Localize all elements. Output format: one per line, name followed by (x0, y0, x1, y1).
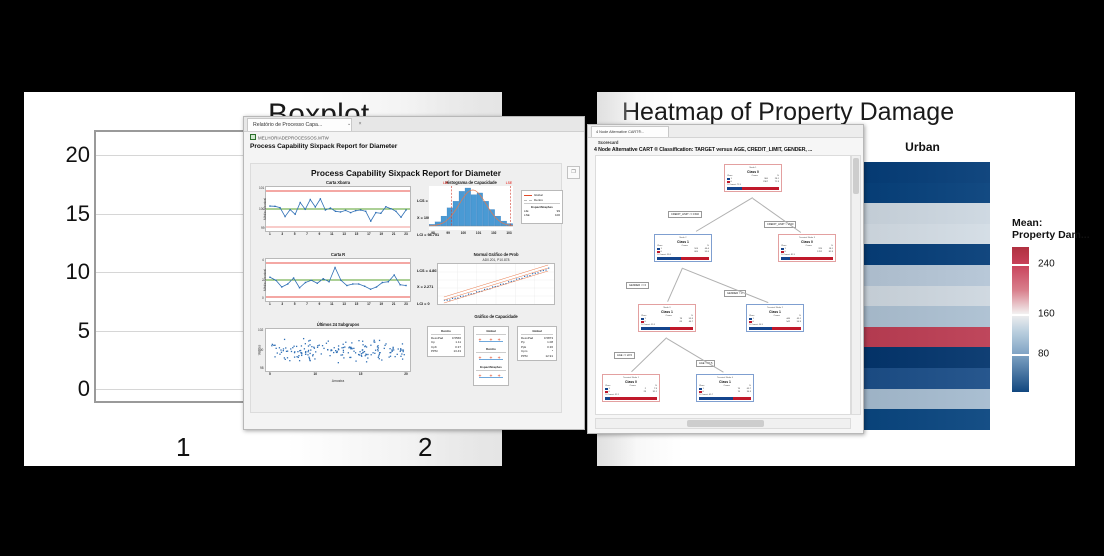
heatmap-legend-title-2: Property Dam... (1012, 229, 1104, 241)
xbar-ytick-2: 99 (261, 226, 265, 230)
histogram-plot-area: LIE LSE 9899100101102103 (429, 186, 513, 230)
heatmap-cell (855, 327, 990, 348)
legend-line-solid (524, 195, 532, 196)
cart-edge (667, 338, 724, 373)
xtick: 15 (355, 232, 359, 236)
legend-line-dashed (524, 200, 532, 201)
cart-node-bar (749, 327, 801, 330)
window-cart-classification[interactable]: 4 Node Alternative CART®... Scorecard 4 … (587, 124, 864, 434)
capability-plot: Gráfico de Capacidade (437, 314, 555, 320)
overall-table-header: Global (521, 329, 553, 335)
histogram-legend: Global Dentro Especificações LIE99 LSE10… (521, 190, 563, 224)
heatmap-cell (855, 368, 990, 389)
cart-node-bar (781, 257, 833, 260)
xbar-chart-title: Carta Xbarra (265, 180, 411, 185)
r-ucl-note: LCS = 4.801 (417, 269, 438, 273)
xtick: 99 (446, 231, 450, 235)
boxplot-ytick-4: 20 (66, 142, 90, 168)
legend-divider (524, 203, 560, 204)
boxplot-ytick-3: 15 (66, 201, 90, 227)
heatmap-legend-title-1: Mean: (1012, 217, 1104, 229)
worksheet-icon (250, 134, 256, 140)
capability-within-table: Dentro DesvPad0.5566 Cp1.11 CpK0.37 PPM1… (427, 326, 465, 357)
r-ytick-2: 0 (262, 296, 264, 300)
cart-tab[interactable]: 4 Node Alternative CART®... (591, 126, 669, 137)
cart-split-label: AGE <= 22.5 (614, 352, 635, 359)
cart-node[interactable]: Terminal Node 4Class 1ClassCases%17665.7… (696, 374, 754, 402)
histogram-xticks: 9899100101102103 (429, 230, 513, 236)
heatmap-cell (855, 306, 990, 327)
cart-node-bar (727, 187, 779, 190)
capability-plot-title: Gráfico de Capacidade (437, 314, 555, 319)
xtick: 7 (306, 302, 308, 306)
normal-prob-plot-area (437, 263, 555, 305)
capability-overall-table: Global DesvPad0.5873 Pp1.08 Ppk0.36 Cpm*… (517, 326, 557, 361)
xtick: 98 (431, 231, 435, 235)
slide-number-2: 2 (418, 432, 432, 463)
xtick: 9 (319, 232, 321, 236)
xtick: 9 (319, 302, 321, 306)
colorbar-ticklabel-160: 160 (1038, 308, 1055, 319)
xtick: 21 (392, 302, 396, 306)
cart-split-label: CREDIT_LIMIT <= 1540 (668, 211, 702, 218)
xtick: 1 (269, 302, 271, 306)
r-plot-area: Média Amostral 4 2 0 1357911131517192123 (265, 258, 411, 302)
colorbar-tickline (1012, 264, 1029, 266)
last-subgroups-title: Últimos 24 Subgrupos (265, 322, 411, 327)
xtick: 11 (330, 232, 333, 236)
cart-vscroll-thumb[interactable] (853, 158, 859, 194)
cart-node-bar (641, 327, 693, 330)
r-xticks: 1357911131517192123 (266, 301, 410, 307)
xtick: 3 (281, 302, 283, 306)
histogram-usl-label: LSE (506, 181, 512, 185)
heatmap-cell (855, 389, 990, 410)
heatmap-colorbar: 24016080 (1012, 247, 1029, 392)
heatmap-cell (855, 203, 990, 224)
cart-tree-canvas: Node 1Class 0ClassCases%190028.10230771.… (595, 155, 851, 415)
xtick: 13 (342, 232, 346, 236)
xtick: 11 (330, 302, 333, 306)
colorbar-tickline (1012, 354, 1029, 356)
capbar-spec: +++ (476, 372, 506, 381)
cart-node-class: Class 1 (699, 380, 751, 384)
r-series (266, 259, 410, 301)
cart-tabbar: 4 Node Alternative CART®... (588, 125, 863, 138)
cart-node-class: Class 0 (781, 240, 833, 244)
xtick: 15 (359, 372, 363, 376)
cart-split-label: GENDER <= 0 (626, 282, 649, 289)
heatmap-cell (855, 224, 990, 245)
heatmap-cells (855, 162, 990, 430)
normal-prob-series (438, 264, 554, 304)
boxplot-ytick-0: 0 (78, 376, 90, 402)
cart-node-class: Class 1 (749, 310, 801, 314)
xtick: 103 (506, 231, 511, 235)
cart-node-bar (605, 397, 657, 400)
r-chart-title: Carta R (265, 252, 411, 257)
cart-node[interactable]: Node 2Class 1ClassCases%152446.4060553.6… (654, 234, 712, 262)
cart-node[interactable]: Node 1Class 0ClassCases%190028.10230771.… (724, 164, 782, 192)
xtick: 19 (380, 302, 384, 306)
within-row-3: PPM13.43 (431, 349, 461, 353)
capability-bars-panel: Global +++ Dentro +++ Especificações +++ (473, 326, 509, 386)
xbar-xticks: 1357911131517192123 (266, 231, 410, 237)
cart-edge (696, 197, 753, 232)
xtick: 17 (367, 302, 371, 306)
heatmap-title: Heatmap of Property Damage (622, 98, 954, 127)
presentation-canvas: Boxplot 05101520 1 1 Heatmap of Property… (0, 0, 1104, 556)
colorbar-ticklabel-80: 80 (1038, 349, 1049, 360)
minitab-side-panel-button[interactable]: ❐ (567, 166, 580, 179)
xtick: 5 (269, 372, 271, 376)
colorbar-ticklabel-240: 240 (1038, 259, 1055, 270)
r-lcl-note: LCI = 0 (417, 302, 430, 306)
slide-number-1: 1 (176, 432, 190, 463)
cart-node-class: Class 0 (727, 170, 779, 174)
normal-prob-plot: Normal Gráfico de Prob AD0.201, P10.878 (437, 252, 555, 305)
xbar-plot-area: Média Amostral 101 100 99 13579111315171… (265, 186, 411, 232)
heatmap-cell (855, 347, 990, 368)
capbar-label-spec: Especificações (476, 365, 506, 371)
ls-xticks: 5101520 (266, 371, 410, 377)
legend-item-dentro: Dentro (524, 198, 560, 202)
cart-edge (683, 268, 768, 303)
heatmap-colorbar-gradient (1012, 247, 1029, 392)
minitab-worksheet-row: MELHORIADEPROCESSOS.MTW (244, 132, 584, 141)
cart-scorecard-label: Scorecard (588, 138, 863, 145)
ls-ytick-0: 102 (258, 328, 263, 332)
minitab-tabbar: Relatório de Processo Capa... ⌄ × (244, 117, 584, 132)
xtick: 19 (380, 232, 384, 236)
boxplot-ytick-1: 5 (78, 318, 90, 344)
xtick: 1 (269, 232, 271, 236)
sixpack-main-title: Process Capability Sixpack Report for Di… (251, 168, 561, 178)
window-minitab-capability[interactable]: Relatório de Processo Capa... ⌄ × MELHOR… (243, 116, 585, 430)
overall-row-4: PPM12.91 (521, 354, 553, 358)
within-table-header: Dentro (431, 329, 461, 335)
minitab-tab[interactable]: Relatório de Processo Capa... (247, 118, 352, 131)
heatmap-chart: Urban (855, 140, 990, 430)
xbar-ytick-0: 101 (259, 186, 264, 190)
cart-node-bar (699, 397, 751, 400)
ls-ytick-1: 100 (258, 348, 263, 352)
heatmap-cell (855, 183, 990, 204)
heatmap-column-label-urban: Urban (855, 140, 990, 154)
boxplot-ytick-2: 10 (66, 259, 90, 285)
xtick: 20 (404, 372, 408, 376)
r-center-note: X = 2.271 (417, 285, 433, 289)
cart-node-class: Class 0 (605, 380, 657, 384)
last-subgroups-xlabel: Amostra (265, 379, 411, 383)
histogram-title: Histograma de Capacidade (429, 180, 513, 185)
xtick: 7 (306, 232, 308, 236)
histogram-lsl-label: LIE (443, 181, 448, 185)
xtick: 5 (294, 232, 296, 236)
xtick: 5 (294, 302, 296, 306)
capbar-dentro: +++ (476, 354, 506, 363)
histogram-bars (429, 186, 513, 230)
xtick: 21 (392, 232, 396, 236)
minitab-report-heading: Process Capability Sixpack Report for Di… (244, 141, 584, 153)
xbar-series (266, 187, 410, 231)
xtick: 102 (491, 231, 496, 235)
capbar-label-dentro: Dentro (476, 347, 506, 353)
normal-prob-subtitle: AD0.201, P10.878 (437, 258, 555, 262)
heatmap-cell (855, 409, 990, 430)
cart-node[interactable]: Terminal Node 2Class 1ClassCases%144645.… (746, 304, 804, 332)
r-chart: Carta R Média Amostral 4 2 0 13579111315… (265, 252, 411, 302)
ls-ytick-2: 98 (260, 366, 264, 370)
cart-horizontal-scrollbar[interactable] (595, 418, 851, 429)
last-subgroups-chart: Últimos 24 Subgrupos Valores 102 100 98 … (265, 322, 411, 383)
heatmap-cell (855, 162, 990, 183)
cart-vertical-scrollbar[interactable] (851, 155, 861, 415)
legend-item-global: Global (524, 193, 560, 197)
legend-spec-lse: LSE100 (524, 213, 560, 217)
cart-node[interactable]: Node 3Class 1ClassCases%17855.306344.7% … (638, 304, 696, 332)
cart-node-bar (657, 257, 709, 260)
normal-prob-title: Normal Gráfico de Prob (437, 252, 555, 257)
capbar-label-global: Global (476, 329, 506, 335)
capbar-global: +++ (476, 336, 506, 345)
xtick: 13 (342, 302, 346, 306)
last-subgroups-scatter (266, 329, 410, 371)
heatmap-legend: Mean: Property Dam... 24016080 (1012, 217, 1104, 392)
heatmap-cell (855, 244, 990, 265)
xtick: 3 (281, 232, 283, 236)
xtick: 10 (314, 372, 318, 376)
r-ytick-0: 4 (262, 258, 264, 262)
last-subgroups-plot-area: Valores 102 100 98 5101520 (265, 328, 411, 372)
xtick: 23 (404, 232, 408, 236)
cart-hscroll-thumb[interactable] (687, 420, 763, 427)
cart-node[interactable]: Terminal Node 1Class 0ClassCases%127.902… (602, 374, 660, 402)
xtick: 101 (476, 231, 481, 235)
minitab-worksheet-name: MELHORIADEPROCESSOS.MTW (258, 136, 329, 141)
xtick: 15 (355, 302, 359, 306)
cart-node-class: Class 1 (641, 310, 693, 314)
cart-edge (632, 338, 667, 372)
cart-node[interactable]: Terminal Node 3Class 0ClassCases%137618.… (778, 234, 836, 262)
xtick: 23 (404, 302, 408, 306)
xbar-ytick-1: 100 (259, 207, 264, 211)
heatmap-cell (855, 265, 990, 286)
minitab-graph-canvas: Process Capability Sixpack Report for Di… (250, 163, 562, 413)
xbar-chart: Carta Xbarra Média Amostral 101 100 99 1… (265, 180, 411, 232)
minitab-tab-controls[interactable]: ⌄ × (347, 121, 365, 127)
xtick: 100 (461, 231, 466, 235)
r-ytick-1: 2 (262, 278, 264, 282)
capability-histogram: Histograma de Capacidade LIE LSE 9899100… (429, 180, 513, 230)
cart-edge (667, 268, 683, 302)
cart-node-class: Class 1 (657, 240, 709, 244)
colorbar-tickline (1012, 314, 1029, 316)
heatmap-cell (855, 286, 990, 307)
xtick: 17 (367, 232, 371, 236)
